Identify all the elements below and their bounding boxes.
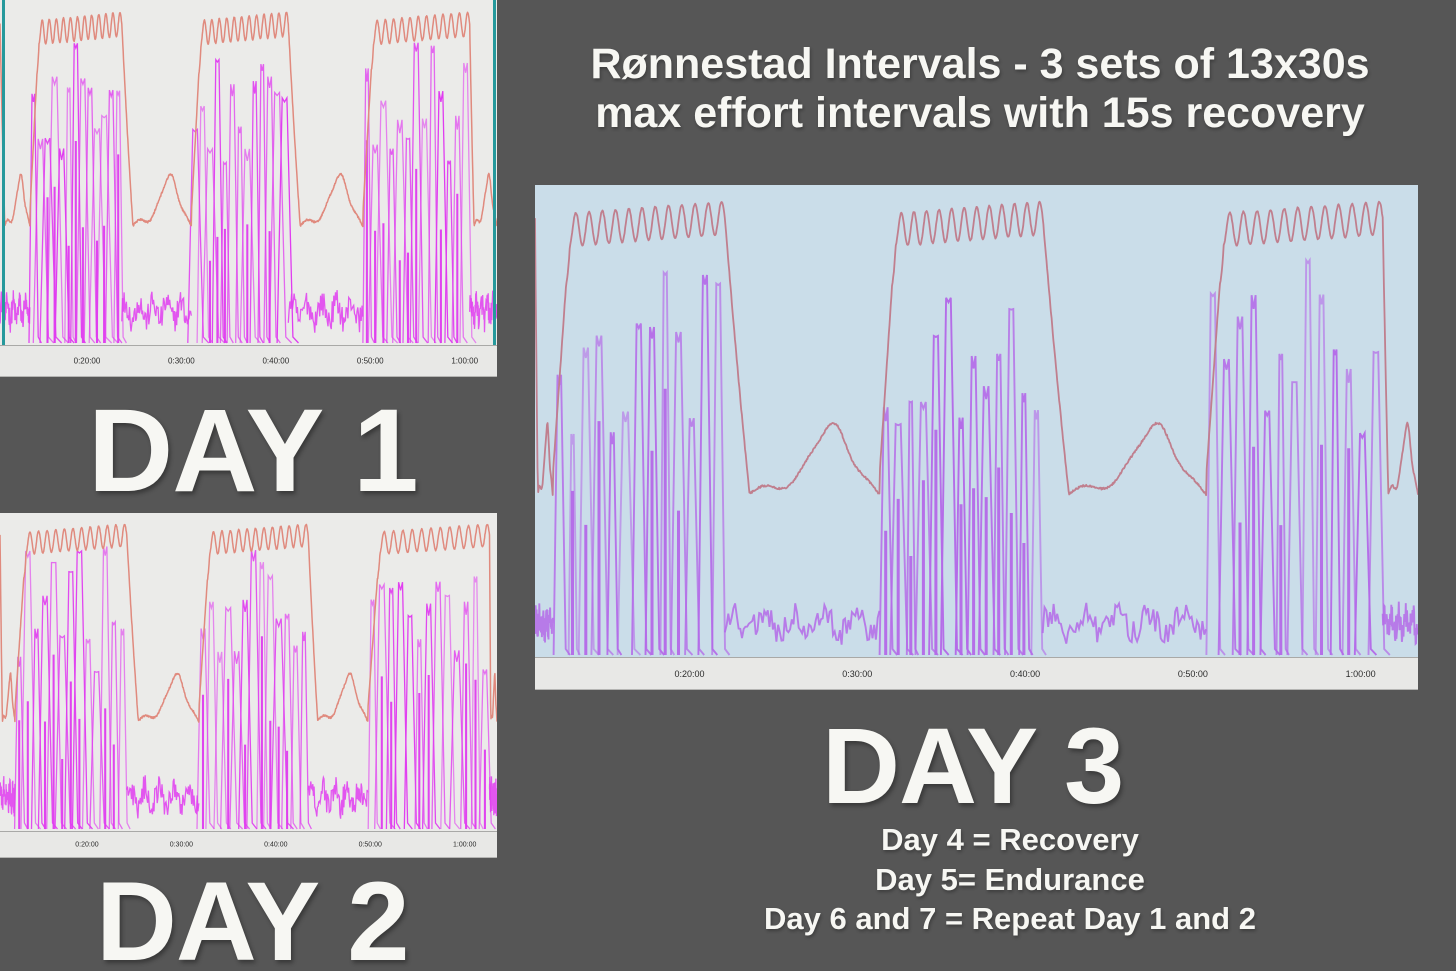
day1-x-axis: 0:20:000:30:000:40:000:50:001:00:00 (0, 345, 497, 377)
x-tick-label: 1:00:00 (1346, 669, 1376, 679)
day3-x-axis: 0:20:000:30:000:40:000:50:001:00:00 (535, 657, 1418, 690)
day2-x-axis: 0:20:000:30:000:40:000:50:001:00:00 (0, 831, 497, 858)
x-tick-label: 0:30:00 (842, 669, 872, 679)
x-tick-label: 0:20:00 (75, 841, 98, 848)
day2-plot-area[interactable] (0, 513, 497, 831)
day3-label: DAY 3 (822, 712, 1123, 820)
x-tick-label: 0:40:00 (1010, 669, 1040, 679)
x-tick-label: 0:40:00 (264, 841, 287, 848)
x-tick-label: 0:40:00 (262, 357, 289, 366)
day2-power-series (0, 547, 497, 830)
day2-label: DAY 2 (96, 866, 409, 971)
day1-cursor-line-left[interactable] (2, 0, 5, 345)
day1-power-series (0, 43, 497, 343)
day3-chart-panel[interactable]: 0:20:000:30:000:40:000:50:001:00:00 (535, 185, 1418, 690)
x-tick-label: 1:00:00 (451, 357, 478, 366)
note-line-3: Day 6 and 7 = Repeat Day 1 and 2 (660, 899, 1360, 939)
day1-cursor-line-right[interactable] (493, 0, 496, 345)
poster-headline: Rønnestad Intervals - 3 sets of 13x30s m… (530, 40, 1430, 139)
day1-plot-area[interactable] (0, 0, 497, 345)
headline-line-2: max effort intervals with 15s recovery (530, 89, 1430, 138)
day1-label: DAY 1 (88, 392, 418, 510)
x-tick-label: 0:50:00 (1178, 669, 1208, 679)
day3-power-series (535, 260, 1418, 655)
poster-root: 0:20:000:30:000:40:000:50:001:00:00 DAY … (0, 0, 1456, 971)
x-tick-label: 0:30:00 (170, 841, 193, 848)
day3-waveforms (535, 185, 1418, 657)
x-tick-label: 0:20:00 (74, 357, 101, 366)
x-tick-label: 0:30:00 (168, 357, 195, 366)
day3-plot-area[interactable] (535, 185, 1418, 657)
note-line-2: Day 5= Endurance (660, 860, 1360, 900)
day2-waveforms (0, 513, 497, 831)
x-tick-label: 0:50:00 (359, 841, 382, 848)
week-schedule-notes: Day 4 = Recovery Day 5= Endurance Day 6 … (660, 820, 1360, 939)
day2-chart-panel[interactable]: 0:20:000:30:000:40:000:50:001:00:00 (0, 513, 497, 858)
note-line-1: Day 4 = Recovery (660, 820, 1360, 860)
day1-waveforms (0, 0, 497, 345)
headline-line-1: Rønnestad Intervals - 3 sets of 13x30s (530, 40, 1430, 89)
x-tick-label: 0:20:00 (675, 669, 705, 679)
day1-chart-panel[interactable]: 0:20:000:30:000:40:000:50:001:00:00 (0, 0, 497, 377)
x-tick-label: 0:50:00 (357, 357, 384, 366)
x-tick-label: 1:00:00 (453, 841, 476, 848)
